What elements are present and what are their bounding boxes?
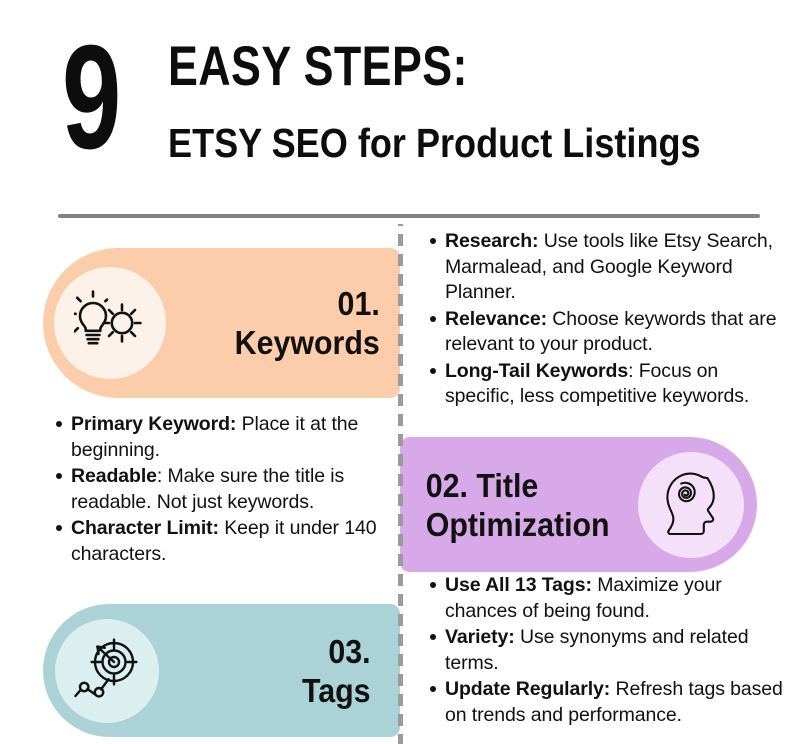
bullet-term: Update Regularly: <box>445 678 610 700</box>
list-item: Primary Keyword: Place it at the beginni… <box>71 412 390 463</box>
step-number-1: 01. <box>185 284 380 323</box>
bullet-term: Variety: <box>445 626 515 648</box>
vertical-dashed-divider <box>398 224 403 744</box>
header-line-2: ETSY SEO for Product Listings <box>168 120 714 166</box>
lightbulb-gear-icon <box>74 290 146 356</box>
bullet-term: Character Limit: <box>71 517 219 539</box>
bullet-term: Readable <box>71 465 157 487</box>
big-number: 9 <box>62 24 118 172</box>
list-item: Character Limit: Keep it under 140 chara… <box>71 516 390 567</box>
header: 9 EASY STEPS: ETSY SEO for Product Listi… <box>0 0 800 200</box>
step-title-3: Tags <box>178 671 370 710</box>
step-title-1: Keywords <box>185 323 380 362</box>
head-spiral-brain-icon <box>658 470 724 540</box>
header-title-block: EASY STEPS: ETSY SEO for Product Listing… <box>168 36 788 166</box>
list-item: Long-Tail Keywords: Focus on specific, l… <box>445 359 782 410</box>
step-card-title-optimization: 02. Title Optimization <box>400 437 757 572</box>
header-line-1: EASY STEPS: <box>168 36 664 96</box>
step-card-tags: 03. Tags <box>43 604 400 737</box>
bullet-list-title-optimization: Primary Keyword: Place it at the beginni… <box>50 412 390 568</box>
icon-circle-tags <box>55 619 159 723</box>
bullet-term: Primary Keyword: <box>71 413 236 435</box>
step-label-tags: 03. Tags <box>178 632 400 710</box>
header-divider-rule <box>58 214 760 218</box>
step-number-3: 03. <box>178 632 370 671</box>
step-label-title-optimization: 02. Title Optimization <box>400 466 619 544</box>
infographic-page: 9 EASY STEPS: ETSY SEO for Product Listi… <box>0 0 800 744</box>
list-item: Readable: Make sure the title is readabl… <box>71 464 390 515</box>
step-label-keywords: 01. Keywords <box>185 284 400 362</box>
bullet-term: Use All 13 Tags: <box>445 574 592 596</box>
list-item: Variety: Use synonyms and related terms. <box>445 625 784 676</box>
bullet-term: Relevance: <box>445 308 547 330</box>
bullet-term: Long-Tail Keywords <box>445 360 628 382</box>
bullet-list-tags: Use All 13 Tags: Maximize your chances o… <box>424 573 784 729</box>
target-arrow-icon <box>73 638 141 704</box>
step-title-2-line1: 02. Title <box>426 466 619 505</box>
list-item: Use All 13 Tags: Maximize your chances o… <box>445 573 784 624</box>
list-item: Relevance: Choose keywords that are rele… <box>445 307 782 358</box>
step-title-2-line2: Optimization <box>426 505 619 544</box>
list-item: Update Regularly: Refresh tags based on … <box>445 677 784 728</box>
icon-circle-keywords <box>54 267 166 379</box>
bullet-list-keywords: Research: Use tools like Etsy Search, Ma… <box>424 229 782 411</box>
bullet-term: Research: <box>445 230 538 252</box>
list-item: Research: Use tools like Etsy Search, Ma… <box>445 229 782 306</box>
icon-circle-title-optimization <box>638 452 744 558</box>
step-card-keywords: 01. Keywords <box>43 248 400 398</box>
